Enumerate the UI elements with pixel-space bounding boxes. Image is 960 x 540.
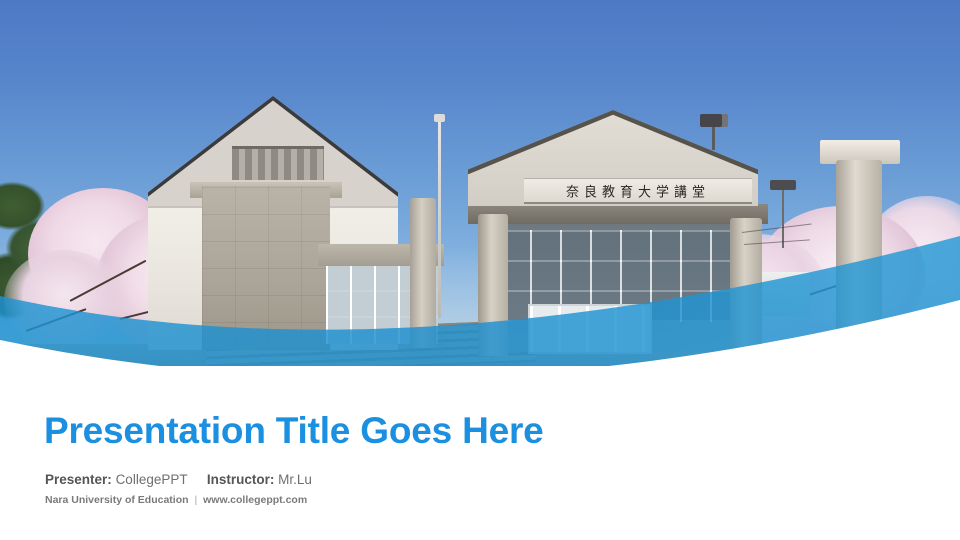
slide-footer-area: Presentation Title Goes Here Presenter: … bbox=[0, 366, 960, 540]
byline: Presenter: CollegePPT Instructor: Mr.Lu bbox=[45, 472, 312, 487]
instructor-label: Instructor: bbox=[207, 472, 275, 487]
subline-separator: | bbox=[191, 494, 200, 506]
blue-swoosh-overlay bbox=[0, 0, 960, 366]
presenter-label: Presenter: bbox=[45, 472, 112, 487]
instructor-name: Mr.Lu bbox=[278, 472, 312, 487]
website-url[interactable]: www.collegeppt.com bbox=[203, 494, 307, 506]
hero-photo: 奈良教育大学講堂 bbox=[0, 0, 960, 366]
subline: Nara University of Education | www.colle… bbox=[45, 494, 307, 506]
presenter-name: CollegePPT bbox=[116, 472, 188, 487]
organization-name: Nara University of Education bbox=[45, 494, 189, 506]
page-title: Presentation Title Goes Here bbox=[44, 410, 544, 452]
presentation-slide: 奈良教育大学講堂 bbox=[0, 0, 960, 540]
